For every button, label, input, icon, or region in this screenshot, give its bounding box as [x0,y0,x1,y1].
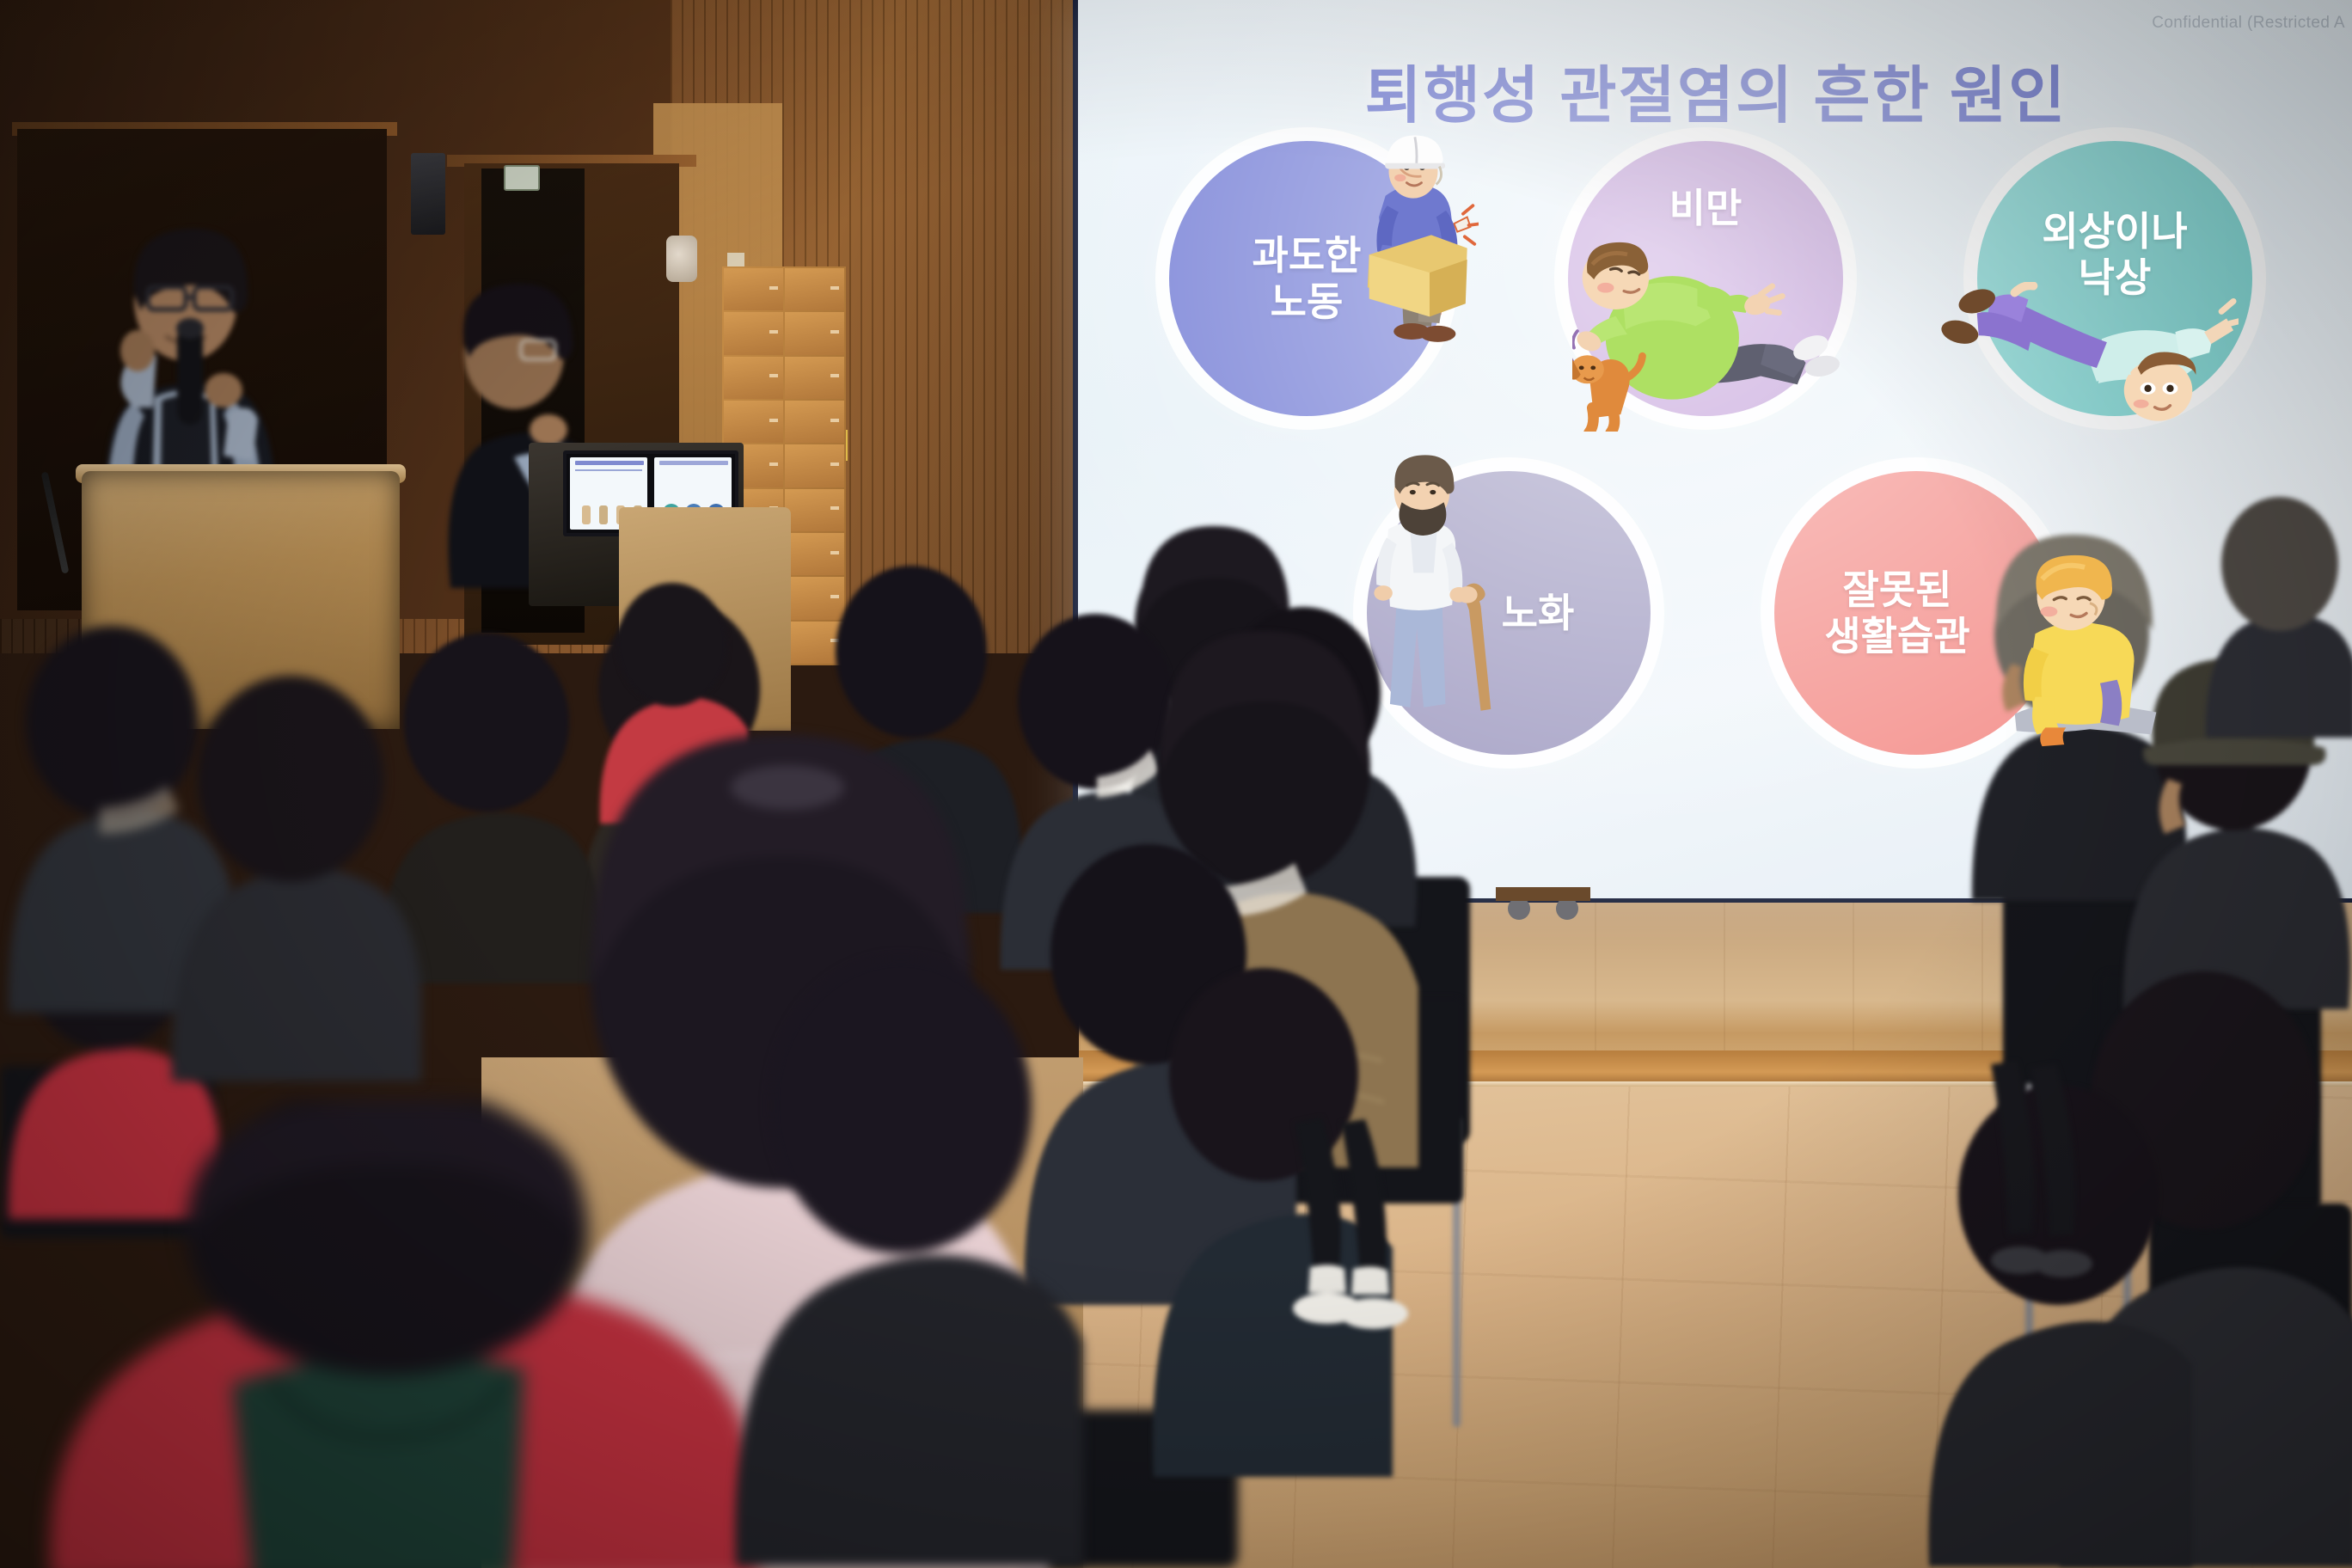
cause-label-trauma-or-fall: 외상이나 낙상 [2042,208,2187,302]
wall-speaker-box [411,153,445,235]
locker-cell [724,401,783,443]
locker-cell [785,268,844,310]
audience-member-red-vest-front [17,1100,791,1568]
locker-cell [724,268,783,310]
cause-label-bad-lifestyle: 잘못된 생활습관 [1824,567,1969,660]
illustration-person-falling [1939,282,2239,454]
illustration-bad-posture-person [1989,552,2194,765]
screen-stand-base [1496,887,1590,901]
cause-label-aging: 노화 [1502,590,1575,636]
audience-member-legs [1986,1057,2149,1350]
locker-cell [785,489,844,531]
mini-slide-rule [575,469,642,471]
locker-cell [785,401,844,443]
locker-cell [724,357,783,399]
locker-cell [785,444,844,487]
illustration-obese-person-with-dog [1572,239,1847,432]
mini-slide-title-bar [659,461,728,465]
slide-title: 퇴행성 관절염의 흔한 원인 [1078,45,2352,135]
wall-mounted-speaker [666,236,697,282]
audience-member [2201,481,2352,739]
locker-cell [785,357,844,399]
mini-figure [599,505,608,524]
mini-slide-title-bar [575,461,644,465]
locker-cell [724,312,783,354]
locker-cell [785,312,844,354]
confidential-notice: Confidential (Restricted A [2152,14,2345,33]
illustration-elderly-man-with-cane [1350,449,1501,729]
audience-member [163,653,421,1083]
cause-label-excessive-labor: 과도한 노동 [1253,232,1362,326]
mini-figure [582,505,591,524]
cause-label-obesity: 비만 [1669,185,1743,231]
lecture-hall-scene: Confidential (Restricted A 퇴행성 관절염의 흔한 원… [0,0,2352,1568]
exit-sign [504,165,540,191]
audience-member-legs [1281,1109,1479,1393]
audience-member [722,928,1083,1568]
